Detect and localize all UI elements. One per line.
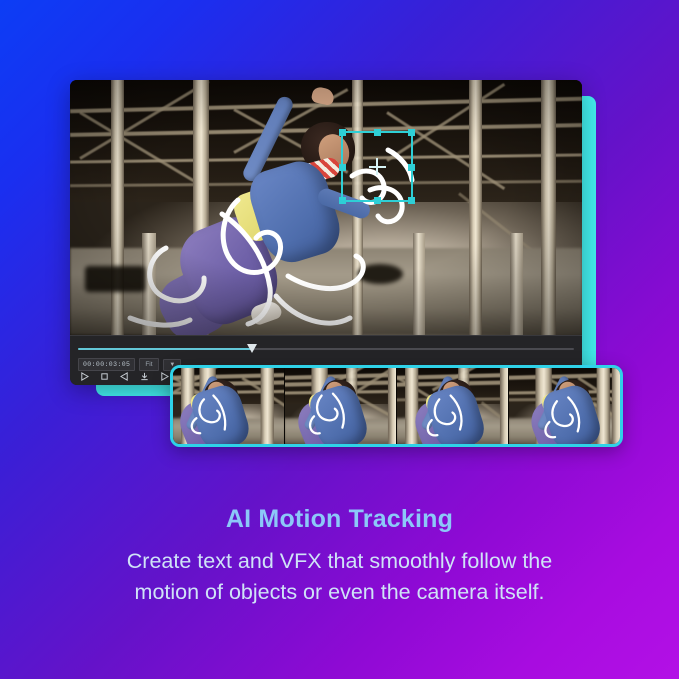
filmstrip-timeline[interactable]: [170, 365, 623, 447]
step-forward-button[interactable]: [159, 371, 170, 382]
play-button[interactable]: [79, 371, 90, 382]
timeline-scrubber[interactable]: [78, 345, 574, 352]
filmstrip-frame[interactable]: [397, 368, 509, 444]
filmstrip-frames: [173, 368, 620, 444]
tracker-handle-middle-left[interactable]: [339, 164, 346, 171]
caption-subtitle-line-2: motion of objects or even the camera its…: [0, 577, 679, 608]
frame-thumbnail: [397, 368, 509, 444]
scrubber-progress: [78, 348, 252, 350]
tracker-handle-top-left[interactable]: [339, 129, 346, 136]
frame-thumbnail: [509, 368, 620, 444]
frame-thumbnail: [173, 368, 285, 444]
caption-block: AI Motion Tracking Create text and VFX t…: [0, 505, 679, 609]
filmstrip-frame[interactable]: [509, 368, 620, 444]
motion-tracking-box[interactable]: [341, 131, 413, 202]
caption-title: AI Motion Tracking: [0, 505, 679, 534]
zoom-fit-select[interactable]: Fit: [139, 358, 159, 371]
step-back-button[interactable]: [119, 371, 130, 382]
tracker-handle-bottom-right[interactable]: [408, 197, 415, 204]
tracker-crosshair-icon: [369, 158, 386, 175]
video-preview-canvas[interactable]: [70, 80, 582, 335]
frame-thumbnail: [285, 368, 397, 444]
tracker-handle-top-right[interactable]: [408, 129, 415, 136]
caption-subtitle-line-1: Create text and VFX that smoothly follow…: [0, 546, 679, 577]
scene-vignette: [70, 80, 582, 335]
video-editor-window: 00:00:03:05 Fit ▼: [70, 80, 582, 385]
export-frame-button[interactable]: [139, 371, 150, 382]
tracker-handle-bottom-left[interactable]: [339, 197, 346, 204]
filmstrip-frame[interactable]: [285, 368, 397, 444]
control-row-readout: 00:00:03:05 Fit ▼: [78, 358, 181, 371]
filmstrip-frame[interactable]: [173, 368, 285, 444]
caption-subtitle: Create text and VFX that smoothly follow…: [0, 546, 679, 609]
tracker-handle-top-center[interactable]: [374, 129, 381, 136]
tracker-handle-bottom-center[interactable]: [374, 197, 381, 204]
timecode-display[interactable]: 00:00:03:05: [78, 358, 135, 371]
playhead-marker[interactable]: [247, 344, 257, 353]
tracker-handle-middle-right[interactable]: [408, 164, 415, 171]
stop-button[interactable]: [99, 371, 110, 382]
